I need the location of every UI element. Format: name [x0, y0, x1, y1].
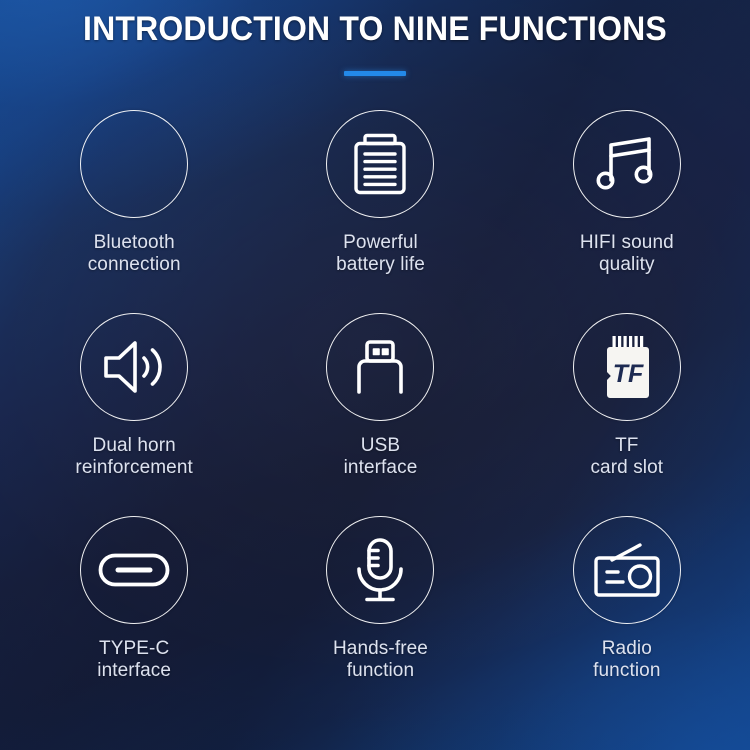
music-note-icon-wrap [573, 110, 681, 218]
usb-connector-icon-wrap [326, 313, 434, 421]
radio-icon-wrap [573, 516, 681, 624]
feature-item-bluetooth-connection[interactable]: Bluetooth connection [11, 110, 257, 313]
page-title: INTRODUCTION TO NINE FUNCTIONS [23, 0, 728, 49]
bluetooth-icon [80, 110, 188, 218]
feature-label-line2: quality [580, 254, 674, 276]
feature-label: HIFI sound quality [580, 232, 674, 276]
feature-grid: Bluetooth connection Powerful battery [0, 110, 750, 719]
feature-label-line1: Bluetooth [94, 232, 175, 253]
feature-item-powerful-battery-life[interactable]: Powerful battery life [257, 110, 503, 313]
tf-card-text: TF [613, 360, 644, 388]
feature-item-type-c-interface[interactable]: TYPE-C interface [11, 516, 257, 719]
feature-label-line2: card slot [590, 457, 663, 479]
title-accent-bar [344, 71, 406, 76]
feature-label-line2: interface [344, 457, 418, 479]
feature-label-line2: interface [97, 660, 171, 682]
feature-label-line1: Radio [602, 638, 652, 659]
feature-item-hifi-sound-quality[interactable]: HIFI sound quality [504, 110, 750, 313]
battery-icon [352, 133, 408, 195]
tf-memory-card-icon: TF [598, 334, 656, 400]
feature-label-line1: USB [361, 435, 400, 456]
feature-label-line1: TYPE-C [99, 638, 169, 659]
feature-label-line1: HIFI sound [580, 232, 674, 253]
feature-label-line2: function [593, 660, 660, 682]
feature-label-line2: function [333, 660, 428, 682]
feature-item-hands-free-function[interactable]: Hands-free function [257, 516, 503, 719]
feature-label: Powerful battery life [336, 232, 425, 276]
feature-label: TF card slot [590, 435, 663, 479]
usb-connector-icon [351, 338, 409, 396]
feature-label-line2: battery life [336, 254, 425, 276]
feature-label: Dual horn reinforcement [75, 435, 192, 479]
speaker-volume-icon-wrap [80, 313, 188, 421]
feature-label-line1: TF [615, 435, 638, 456]
feature-label-line2: connection [88, 254, 181, 276]
feature-item-usb-interface[interactable]: USB interface [257, 313, 503, 516]
feature-label-line1: Dual horn [93, 435, 176, 456]
speaker-volume-icon [102, 339, 166, 395]
music-note-icon [597, 135, 657, 193]
tf-memory-card-icon-wrap: TF [573, 313, 681, 421]
feature-label: Bluetooth connection [88, 232, 181, 276]
feature-label: Radio function [593, 638, 660, 682]
feature-label: Hands-free function [333, 638, 428, 682]
feature-label: TYPE-C interface [97, 638, 171, 682]
feature-item-dual-horn-reinforcement[interactable]: Dual horn reinforcement [11, 313, 257, 516]
header: INTRODUCTION TO NINE FUNCTIONS [0, 0, 750, 76]
feature-item-tf-card-slot[interactable]: TF TF card slot [504, 313, 750, 516]
usb-type-c-port-icon-wrap [80, 516, 188, 624]
microphone-icon [354, 538, 406, 602]
usb-type-c-port-icon [98, 553, 170, 587]
feature-label-line1: Hands-free [333, 638, 428, 659]
battery-icon-wrap [326, 110, 434, 218]
feature-label-line1: Powerful [343, 232, 418, 253]
feature-item-radio-function[interactable]: Radio function [504, 516, 750, 719]
radio-icon [593, 543, 661, 597]
infographic-page: INTRODUCTION TO NINE FUNCTIONS Bluetooth… [0, 0, 750, 750]
feature-label-line2: reinforcement [75, 457, 192, 479]
microphone-icon-wrap [326, 516, 434, 624]
feature-label: USB interface [344, 435, 418, 479]
